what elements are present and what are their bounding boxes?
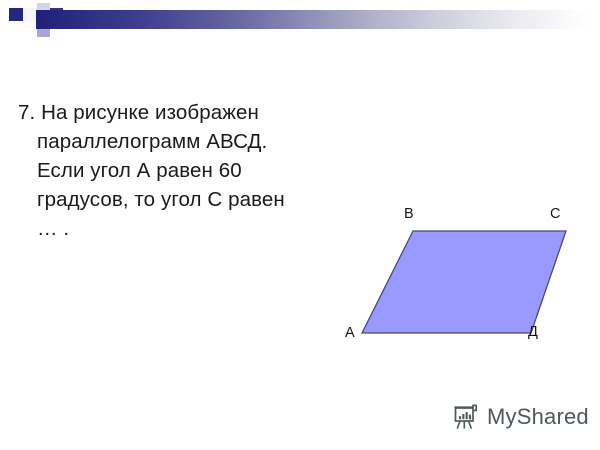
vertex-label-d: Д (528, 325, 538, 340)
question-text-block: 7. На рисунке изображен параллелограмм А… (18, 98, 354, 243)
question-line-3: Если угол А равен 60 (18, 156, 354, 185)
square-light-2 (23, 21, 37, 28)
question-line-2: параллелограмм АВСД. (18, 127, 354, 156)
question-line-1: 7. На рисунке изображен (18, 98, 354, 127)
question-line-4: градусов, то угол С равен (18, 185, 354, 214)
square-mid-2 (37, 28, 50, 37)
vertex-label-a: А (345, 326, 355, 341)
header-gradient-bar (36, 10, 588, 29)
header-decoration (0, 0, 600, 48)
question-line-5: … . (18, 214, 354, 243)
myshared-logo-text: MyShared (487, 406, 589, 428)
square-light-3 (23, 28, 37, 37)
vertex-label-b: В (404, 207, 414, 222)
square-light-1 (23, 8, 37, 21)
square-dark-1 (9, 8, 23, 21)
vertex-label-c: С (550, 207, 560, 222)
myshared-logo[interactable]: MyShared (452, 401, 589, 433)
parallelogram-figure: В С А Д (335, 198, 590, 348)
flipchart-bar-chart-icon (452, 403, 480, 431)
